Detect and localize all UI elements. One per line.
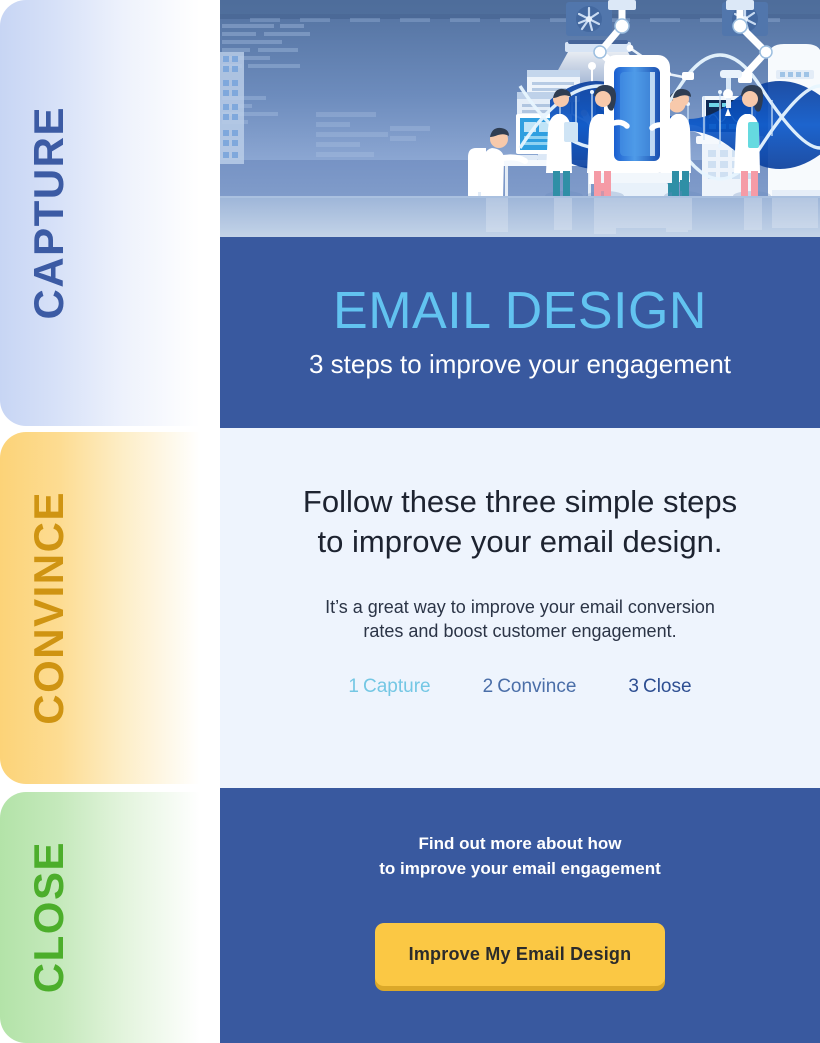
body-headline-line-1: Follow these three simple steps xyxy=(250,482,790,522)
email-card: EMAIL DESIGN 3 steps to improve your eng… xyxy=(220,0,820,1043)
step-links: 1Capture 2Convince 3Close xyxy=(250,676,790,698)
footer-band: Find out more about how to improve your … xyxy=(220,788,820,1043)
step-tab-close-label-wrap: CLOSE xyxy=(0,792,200,1043)
improve-my-email-design-button[interactable]: Improve My Email Design xyxy=(375,923,666,986)
hero-illustration xyxy=(220,0,820,237)
step-link-capture-label: Capture xyxy=(363,676,431,697)
footer-copy-line-2: to improve your email engagement xyxy=(220,857,820,882)
step-link-convince-number: 2 xyxy=(483,676,494,697)
step-rail: CAPTURE CONVINCE CLOSE xyxy=(0,0,220,1043)
step-link-capture[interactable]: 1Capture xyxy=(348,676,430,698)
step-tab-capture-label: CAPTURE xyxy=(28,106,70,320)
step-tab-convince[interactable]: CONVINCE xyxy=(0,432,200,784)
body-headline-line-2: to improve your email design. xyxy=(250,522,790,562)
step-tab-convince-label-wrap: CONVINCE xyxy=(0,432,200,784)
step-tab-convince-label: CONVINCE xyxy=(28,491,70,725)
step-tab-capture[interactable]: CAPTURE xyxy=(0,0,200,426)
step-link-close-label: Close xyxy=(643,676,692,697)
body-panel: Follow these three simple steps to impro… xyxy=(220,428,820,788)
step-link-capture-number: 1 xyxy=(348,676,359,697)
step-link-close-number: 3 xyxy=(628,676,639,697)
header-band: EMAIL DESIGN 3 steps to improve your eng… xyxy=(220,237,820,428)
lab-scene-icon xyxy=(220,0,820,237)
step-link-close[interactable]: 3Close xyxy=(628,676,691,698)
step-tab-close-label: CLOSE xyxy=(28,841,70,993)
server-rack xyxy=(220,52,244,164)
body-headline: Follow these three simple steps to impro… xyxy=(250,482,790,563)
page-subtitle: 3 steps to improve your engagement xyxy=(309,349,731,380)
body-subcopy-line-1: It’s a great way to improve your email c… xyxy=(250,595,790,620)
body-subcopy: It’s a great way to improve your email c… xyxy=(250,595,790,645)
step-link-convince-label: Convince xyxy=(497,676,576,697)
footer-copy: Find out more about how to improve your … xyxy=(220,832,820,881)
step-tab-capture-label-wrap: CAPTURE xyxy=(0,0,200,426)
footer-copy-line-1: Find out more about how xyxy=(220,832,820,857)
step-tab-close[interactable]: CLOSE xyxy=(0,792,200,1043)
page-title: EMAIL DESIGN xyxy=(333,285,707,337)
ceiling-fan-left xyxy=(566,2,612,36)
step-link-convince[interactable]: 2Convince xyxy=(483,676,577,698)
body-subcopy-line-2: rates and boost customer engagement. xyxy=(250,619,790,644)
